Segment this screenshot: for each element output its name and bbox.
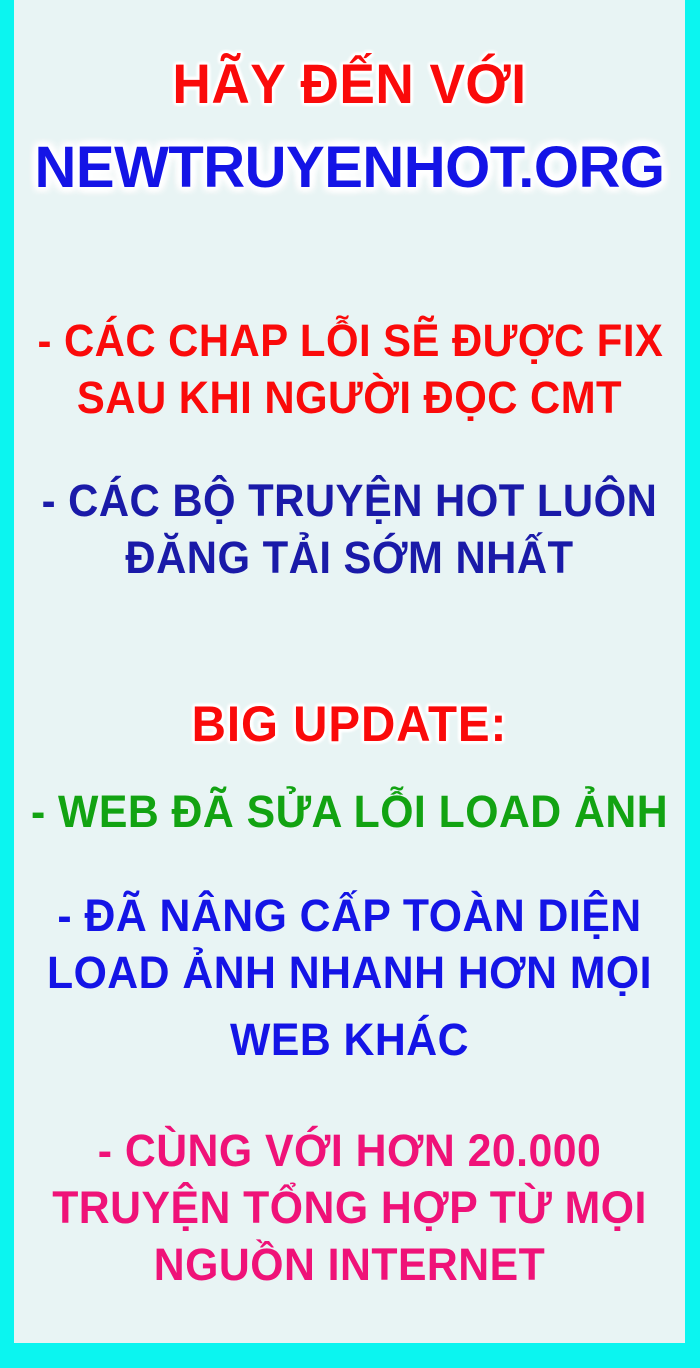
update-2-line-2: LOAD ẢNH NHANH HƠN MỌI — [31, 950, 668, 995]
hero-headline: HÃY ĐẾN VỚI — [31, 56, 668, 112]
notice-2-line-1: - CÁC BỘ TRUYỆN HOT LUÔN — [37, 478, 661, 523]
big-update-heading: BIG UPDATE: — [31, 699, 668, 749]
banner-content-panel: HÃY ĐẾN VỚI NEWTRUYENHOT.ORG - CÁC CHAP … — [14, 0, 685, 1343]
promo-banner: HÃY ĐẾN VỚI NEWTRUYENHOT.ORG - CÁC CHAP … — [0, 0, 700, 1368]
site-domain-text[interactable]: NEWTRUYENHOT.ORG — [14, 139, 685, 197]
update-1-line-1: - WEB ĐÃ SỬA LỖI LOAD ẢNH — [31, 789, 668, 834]
notice-1-line-1: - CÁC CHAP LỖI SẼ ĐƯỢC FIX — [37, 318, 661, 363]
update-3-line-1: - CÙNG VỚI HƠN 20.000 — [31, 1128, 668, 1173]
border-band-left — [0, 0, 14, 1368]
notice-1-line-2: SAU KHI NGƯỜI ĐỌC CMT — [37, 375, 661, 420]
update-2-line-1: - ĐÃ NÂNG CẤP TOÀN DIỆN — [31, 893, 668, 938]
update-3-line-3: NGUỒN INTERNET — [31, 1242, 668, 1287]
update-2-line-3: WEB KHÁC — [31, 1017, 668, 1062]
update-3-line-2: TRUYỆN TỔNG HỢP TỪ MỌI — [31, 1185, 668, 1230]
border-band-right — [685, 0, 700, 1368]
notice-2-line-2: ĐĂNG TẢI SỚM NHẤT — [37, 535, 661, 580]
border-band-bottom — [0, 1343, 700, 1368]
